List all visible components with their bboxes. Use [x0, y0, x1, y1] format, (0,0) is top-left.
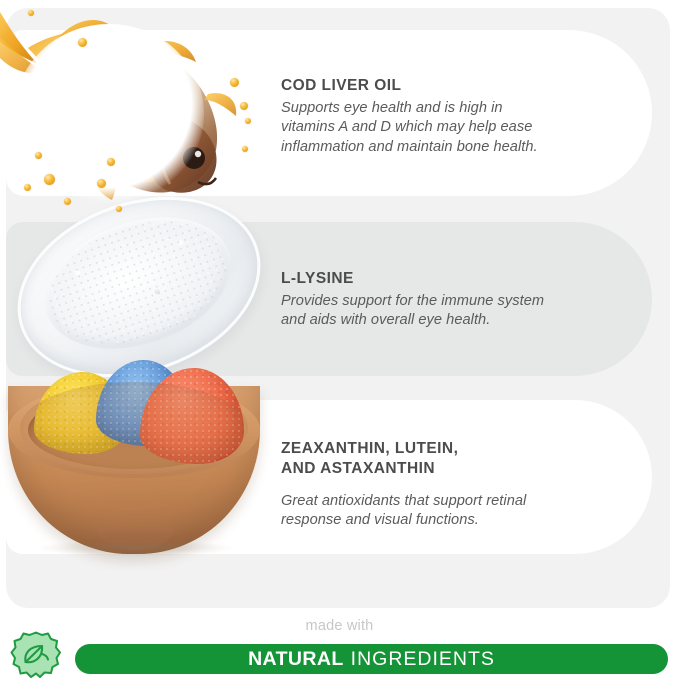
card-description: Supports eye health and is high in vitam… [281, 99, 631, 157]
made-with-label: made with [0, 618, 679, 634]
infographic-root: COD LIVER OIL Supports eye health and is… [0, 0, 679, 682]
card-text-zeaxanthin: ZEAXANTHIN, LUTEIN, AND ASTAXANTHIN Grea… [281, 439, 631, 530]
card-description: Provides support for the immune system a… [281, 292, 631, 331]
card-title: COD LIVER OIL [281, 76, 631, 96]
card-description: Great antioxidants that support retinal … [281, 492, 631, 531]
card-title: L-LYSINE [281, 269, 631, 289]
leaf-badge-icon [10, 630, 62, 680]
banner-light-text: INGREDIENTS [351, 648, 495, 671]
natural-ingredients-banner: NATURAL INGREDIENTS [75, 644, 668, 674]
card-text-cod-liver-oil: COD LIVER OIL Supports eye health and is… [281, 76, 631, 157]
banner-bold-text: NATURAL [248, 648, 344, 671]
card-title: ZEAXANTHIN, LUTEIN, AND ASTAXANTHIN [281, 439, 631, 479]
card-text-l-lysine: L-LYSINE Provides support for the immune… [281, 269, 631, 331]
